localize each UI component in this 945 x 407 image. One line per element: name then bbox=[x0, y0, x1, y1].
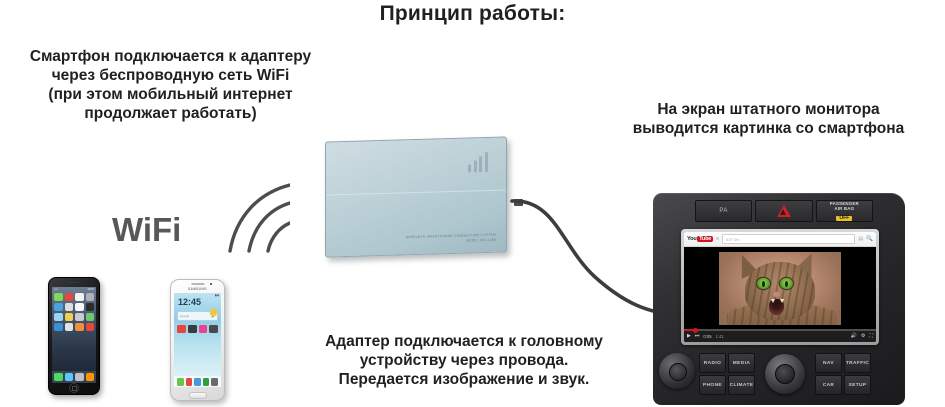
head-unit-button-pad[interactable]: RADIO MEDIA NAV TRAFFIC PHONE CLIMATE CA… bbox=[699, 353, 871, 395]
signal-bars-icon bbox=[468, 152, 494, 173]
app-icon[interactable] bbox=[75, 323, 84, 331]
app-icon[interactable] bbox=[199, 325, 208, 333]
button-radio[interactable]: RADIO bbox=[699, 353, 726, 373]
samsung-screen[interactable]: ▮▮▮ 12:45 Google 🎤 bbox=[174, 293, 221, 387]
dock-icon[interactable] bbox=[54, 373, 63, 381]
progress-handle[interactable] bbox=[693, 328, 698, 333]
samsung-status-icons: ▮▮▮ bbox=[215, 294, 219, 297]
cat-video-frame bbox=[719, 252, 841, 325]
cat-pupil-left bbox=[762, 281, 765, 287]
menu-icon[interactable]: ≡ bbox=[716, 236, 719, 242]
samsung-dock[interactable] bbox=[174, 376, 221, 387]
button-car[interactable]: CAR bbox=[815, 375, 842, 395]
parking-sensor-icon: PA bbox=[719, 208, 728, 214]
airbag-status-badge: PASSENGER AIR BAG OFF bbox=[830, 201, 859, 222]
dock-icon[interactable] bbox=[186, 378, 193, 386]
callout-text-left: Смартфон подключается к адаптеру через б… bbox=[0, 47, 343, 123]
player-controls-right[interactable]: 🔊 ⚙ ⛶ bbox=[851, 333, 873, 339]
app-icon[interactable] bbox=[54, 303, 63, 311]
youtube-logo[interactable]: YouTube bbox=[687, 236, 713, 242]
dock-icon[interactable] bbox=[65, 373, 74, 381]
sun-weather-icon bbox=[210, 309, 217, 316]
app-icon[interactable] bbox=[54, 313, 63, 321]
button-media[interactable]: MEDIA bbox=[728, 353, 755, 373]
wifi-adapter-device[interactable]: ····· WIRELESS SMARTPHONE CONNECTION SYS… bbox=[325, 139, 517, 261]
app-icon[interactable] bbox=[86, 313, 95, 321]
button-traffic[interactable]: TRAFFIC bbox=[844, 353, 871, 373]
video-progress-bar[interactable] bbox=[684, 329, 876, 331]
iphone-battery-text: 100% bbox=[87, 288, 94, 291]
app-icon[interactable] bbox=[54, 293, 63, 301]
callout-text-right: На экран штатного монитора выводится кар… bbox=[592, 100, 945, 138]
youtube-logo-tube: Tube bbox=[697, 236, 713, 242]
video-player-controls[interactable]: ▶ ⏭ 0:05 1:41 🔊 ⚙ ⛶ bbox=[684, 329, 876, 342]
app-icon[interactable] bbox=[188, 325, 197, 333]
button-setup[interactable]: SETUP bbox=[844, 375, 871, 395]
button-climate[interactable]: CLIMATE bbox=[728, 375, 755, 395]
app-icon[interactable] bbox=[86, 323, 95, 331]
samsung-front-camera bbox=[210, 283, 212, 285]
youtube-logo-you: You bbox=[687, 236, 697, 242]
airbag-status-value: OFF bbox=[836, 216, 852, 222]
button-phone[interactable]: PHONE bbox=[699, 375, 726, 395]
dock-icon[interactable] bbox=[203, 378, 210, 386]
video-elapsed-time: 0:05 bbox=[703, 334, 711, 339]
head-unit-screen-frame: YouTube ≡ кот он ▤ 🔍 bbox=[681, 229, 879, 345]
dock-icon[interactable] bbox=[194, 378, 201, 386]
app-icon[interactable] bbox=[65, 313, 74, 321]
hazard-triangle-icon bbox=[777, 205, 791, 217]
cat-nose bbox=[773, 292, 780, 297]
iphone-device[interactable]: •••• 100% bbox=[48, 277, 100, 395]
head-unit-display[interactable]: YouTube ≡ кот он ▤ 🔍 bbox=[684, 232, 876, 342]
app-icon[interactable] bbox=[209, 325, 218, 333]
search-icon[interactable]: 🔍 bbox=[866, 236, 873, 242]
iphone-screen[interactable]: •••• 100% bbox=[52, 287, 96, 383]
adapter-body: ····· WIRELESS SMARTPHONE CONNECTION SYS… bbox=[325, 136, 507, 257]
video-duration: 1:41 bbox=[716, 334, 724, 339]
dock-icon[interactable] bbox=[86, 373, 95, 381]
button-nav[interactable]: NAV bbox=[815, 353, 842, 373]
app-icon[interactable] bbox=[65, 293, 74, 301]
samsung-device[interactable]: SAMSUNG ▮▮▮ 12:45 Google 🎤 bbox=[170, 279, 225, 401]
power-volume-knob[interactable] bbox=[659, 353, 695, 389]
dock-icon[interactable] bbox=[75, 373, 84, 381]
head-unit-top-buttons[interactable]: PA PASSENGER AIR BAG OFF bbox=[695, 200, 873, 222]
app-icon[interactable] bbox=[86, 293, 95, 301]
samsung-home-button[interactable] bbox=[189, 392, 207, 399]
adapter-brand-mark: ····· bbox=[326, 186, 498, 195]
settings-icon[interactable]: ⚙ bbox=[861, 333, 865, 339]
cat-tooth-right bbox=[780, 299, 784, 303]
parking-sensor-button[interactable]: PA bbox=[695, 200, 752, 222]
fullscreen-icon[interactable]: ⛶ bbox=[869, 333, 873, 339]
play-icon[interactable]: ▶ bbox=[687, 333, 691, 339]
search-input-value: кот он bbox=[726, 237, 739, 242]
adapter-model-text: WIRELESS SMARTPHONE CONNECTION SYSTEM MO… bbox=[406, 233, 496, 246]
iphone-body: •••• 100% bbox=[48, 277, 100, 395]
iphone-app-grid[interactable] bbox=[52, 291, 96, 333]
samsung-clock-widget: 12:45 bbox=[174, 297, 221, 307]
samsung-brand-label: SAMSUNG bbox=[188, 287, 207, 291]
app-icon[interactable] bbox=[65, 303, 74, 311]
iphone-signal-text: •••• bbox=[54, 288, 58, 291]
dock-icon[interactable] bbox=[211, 378, 218, 386]
upload-icon[interactable]: ▤ bbox=[858, 236, 863, 242]
callout-text-bottom: Адаптер подключается к головному устройс… bbox=[278, 332, 650, 389]
rotary-selector-knob[interactable] bbox=[757, 353, 813, 395]
google-search-placeholder: Google bbox=[180, 314, 189, 318]
iphone-dock[interactable] bbox=[52, 371, 96, 383]
app-icon[interactable] bbox=[86, 303, 95, 311]
video-player-viewport[interactable] bbox=[684, 247, 876, 329]
app-icon[interactable] bbox=[54, 323, 63, 331]
knob-center[interactable] bbox=[669, 363, 687, 381]
app-icon[interactable] bbox=[75, 303, 84, 311]
wifi-label: WiFi bbox=[112, 211, 181, 249]
app-icon[interactable] bbox=[65, 323, 74, 331]
hazard-lights-button[interactable] bbox=[755, 200, 812, 222]
next-icon[interactable]: ⏭ bbox=[695, 333, 700, 339]
cat-tooth-left bbox=[771, 299, 775, 303]
app-icon[interactable] bbox=[177, 325, 186, 333]
samsung-app-grid[interactable] bbox=[174, 321, 221, 333]
car-head-unit[interactable]: PA PASSENGER AIR BAG OFF YouTube bbox=[653, 193, 945, 405]
wifi-signal-arcs bbox=[228, 183, 290, 253]
youtube-search-input[interactable]: кот он bbox=[722, 234, 855, 244]
player-controls-left[interactable]: ▶ ⏭ 0:05 1:41 bbox=[687, 333, 724, 339]
iphone-earpiece bbox=[68, 282, 80, 284]
iphone-home-button[interactable] bbox=[69, 383, 79, 393]
youtube-header-bar: YouTube ≡ кот он ▤ 🔍 bbox=[684, 232, 876, 247]
head-unit-bezel: PA PASSENGER AIR BAG OFF YouTube bbox=[653, 193, 905, 405]
dock-icon[interactable] bbox=[177, 378, 184, 386]
airbag-line2: AIR BAG bbox=[830, 206, 859, 212]
samsung-body: SAMSUNG ▮▮▮ 12:45 Google 🎤 bbox=[170, 279, 225, 401]
cat-pupil-right bbox=[785, 281, 788, 287]
passenger-airbag-indicator: PASSENGER AIR BAG OFF bbox=[816, 200, 873, 222]
app-icon[interactable] bbox=[75, 293, 84, 301]
samsung-earpiece bbox=[191, 283, 204, 285]
volume-icon[interactable]: 🔊 bbox=[851, 333, 857, 339]
page-title: Принцип работы: bbox=[0, 2, 945, 26]
app-icon[interactable] bbox=[75, 313, 84, 321]
